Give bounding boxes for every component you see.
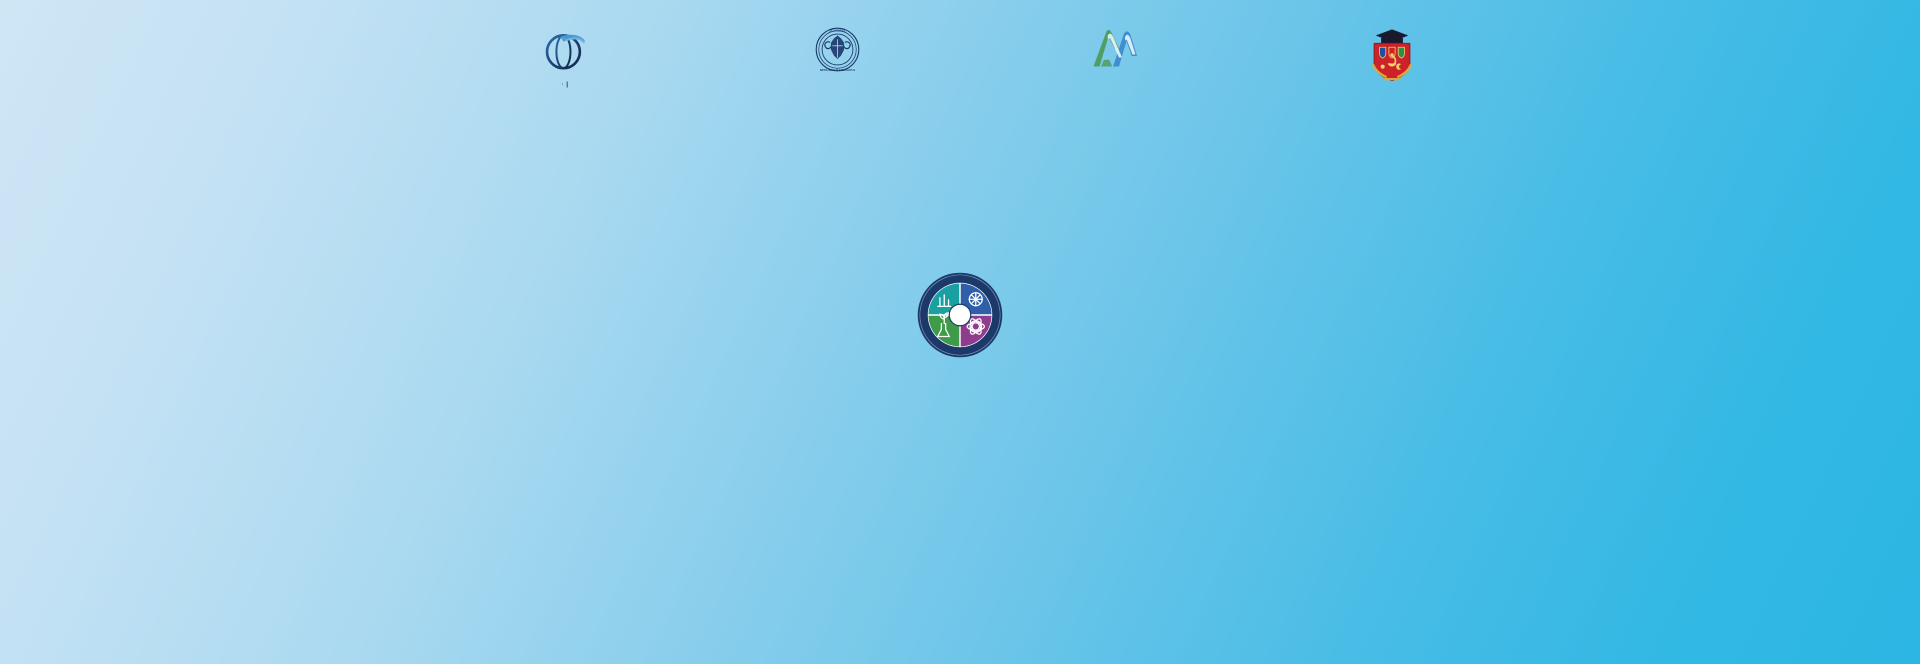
- banner-content: · |: [0, 0, 1920, 664]
- university-coat-of-arms-icon: [1364, 26, 1420, 84]
- svg-text:REPUBLICII MOLDOVA: REPUBLICII MOLDOVA: [820, 68, 856, 72]
- logo-row: · |: [540, 26, 1420, 122]
- logo-higher-education-project: [1086, 26, 1140, 71]
- wb-sep2: |: [566, 81, 568, 88]
- logo-world-bank: · |: [540, 26, 590, 88]
- moldova-state-seal-icon: GUVERNUL REPUBLICII MOLDOVA: [814, 26, 861, 73]
- svg-text:GUVERNUL: GUVERNUL: [829, 29, 847, 33]
- world-bank-subline: · |: [562, 81, 569, 88]
- globe-icon: [540, 26, 590, 76]
- banner-root: · |: [0, 0, 1920, 664]
- mountain-ribbon-icon: [1086, 26, 1140, 68]
- force-farm-badge-wrap: [0, 272, 1920, 358]
- logo-ministry-of-education: GUVERNUL REPUBLICII MOLDOVA: [814, 26, 861, 77]
- logo-usmf: [1364, 26, 1420, 86]
- force-farm-seal-icon: [917, 272, 1003, 358]
